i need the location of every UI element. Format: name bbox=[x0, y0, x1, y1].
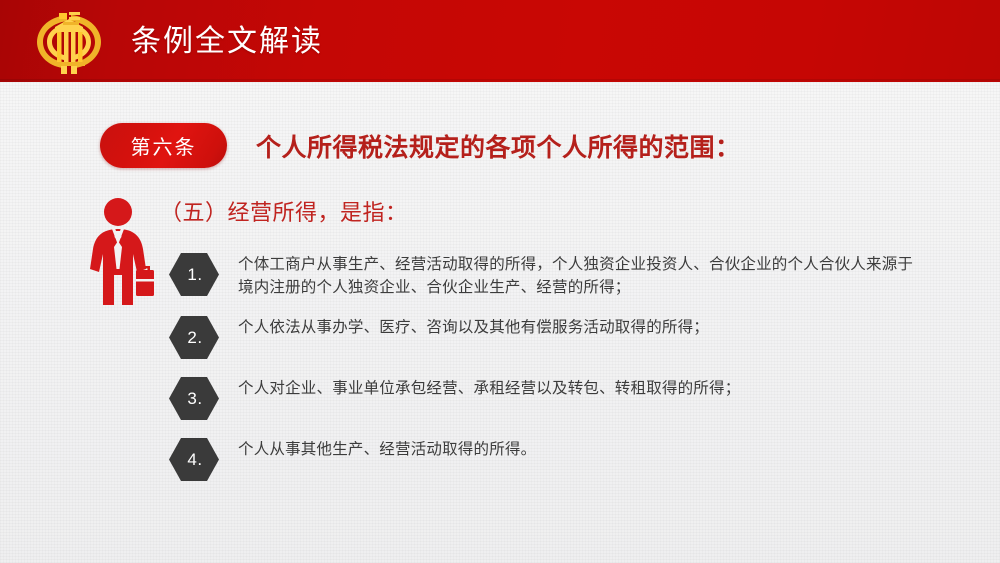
page-title: 条例全文解读 bbox=[131, 23, 323, 61]
list-item: 2. 个人依法从事办学、医疗、咨询以及其他有偿服务活动取得的所得； bbox=[168, 313, 978, 360]
hexagon-number-badge: 4. bbox=[168, 437, 220, 482]
businessman-icon bbox=[88, 197, 160, 309]
section-subtitle: （五）经营所得，是指： bbox=[160, 198, 408, 228]
list-item-number: 2. bbox=[168, 315, 220, 360]
article-number-label: 第六条 bbox=[131, 131, 197, 160]
list-item-text: 个人对企业、事业单位承包经营、承租经营以及转包、转租取得的所得； bbox=[238, 374, 978, 400]
list-item-text: 个人从事其他生产、经营活动取得的所得。 bbox=[238, 435, 978, 461]
hexagon-number-badge: 3. bbox=[168, 376, 220, 421]
list-item-number: 3. bbox=[168, 376, 220, 421]
hexagon-number-badge: 2. bbox=[168, 315, 220, 360]
list-item: 4. 个人从事其他生产、经营活动取得的所得。 bbox=[168, 435, 978, 482]
list-item-text: 个体工商户从事生产、经营活动取得的所得，个人独资企业投资人、合伙企业的个人合伙人… bbox=[238, 250, 918, 299]
china-tax-emblem-icon bbox=[33, 8, 105, 76]
list-item: 3. 个人对企业、事业单位承包经营、承租经营以及转包、转租取得的所得； bbox=[168, 374, 978, 421]
list-item-text: 个人依法从事办学、医疗、咨询以及其他有偿服务活动取得的所得； bbox=[238, 313, 978, 339]
article-number-badge: 第六条 bbox=[100, 123, 227, 168]
list-item-number: 4. bbox=[168, 437, 220, 482]
header-bar: 条例全文解读 bbox=[0, 0, 1000, 82]
hexagon-number-badge: 1. bbox=[168, 252, 220, 297]
list-item-number: 1. bbox=[168, 252, 220, 297]
list-item: 1. 个体工商户从事生产、经营活动取得的所得，个人独资企业投资人、合伙企业的个人… bbox=[168, 250, 978, 299]
section-heading: 个人所得税法规定的各项个人所得的范围： bbox=[256, 132, 741, 164]
slide-root: 条例全文解读 第六条 个人所得税法规定的各项个人所得的范围： （五）经营所得，是… bbox=[0, 0, 1000, 563]
provisions-list: 1. 个体工商户从事生产、经营活动取得的所得，个人独资企业投资人、合伙企业的个人… bbox=[168, 250, 978, 496]
